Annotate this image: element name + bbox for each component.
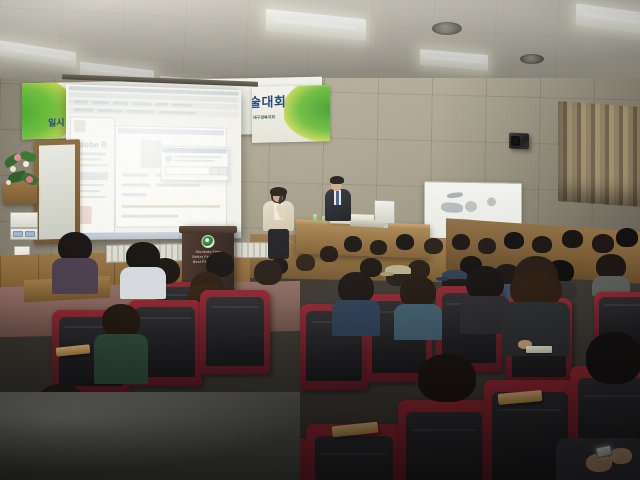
whiteboard-sketch-3 [465,201,477,212]
projection-screen: Adobe R [66,84,241,240]
auditorium-seat[interactable] [200,290,270,374]
dialog-footer-text [122,215,179,218]
audience-member [424,238,443,256]
alert-message-line-1 [175,156,223,159]
audience-member [320,246,338,264]
flower-bloom-5 [6,180,11,185]
dialog-field-value-2 [156,184,201,187]
audience-member [418,354,476,406]
whiteboard-sketch-4 [487,197,496,206]
alert-cancel-button[interactable] [219,167,228,176]
toolbar-icon-group-4 [132,102,151,106]
flower-bloom-1 [14,154,21,161]
banner-swoosh-right-icon [284,85,330,142]
alert-text-input[interactable] [165,166,209,175]
conference-hall-photo: 2 일시 술대회 대구경북지회 Adobe R [0,0,640,480]
flower-bloom-2 [23,161,29,167]
dialog-field-label-2 [122,183,151,186]
floor [0,392,300,480]
dialog-field-label-1 [122,174,149,177]
audience-member [396,234,414,252]
toolbar-icon-group-2 [92,101,110,104]
audience-member [56,232,94,290]
audience-member [96,304,146,384]
dialog-title-bar [118,128,224,135]
toolbar-icon-group-3 [113,101,128,104]
audience-member [452,234,470,252]
modal-alert-dialog[interactable] [161,146,229,181]
audience-member [562,230,583,251]
audience-member-dark-coat [504,256,568,354]
conference-banner-right: 술대회 대구경북지회 [252,85,330,143]
wall-speaker-icon [509,132,529,149]
toolbar-icon-group-7 [74,108,94,112]
toolbar-icon-group-1 [74,100,88,103]
flower-arrangement [2,146,42,194]
audience-member [344,236,362,254]
alert-info-icon [165,155,172,162]
toolbar-icon-group-6 [172,103,192,107]
banner-title-right: 술대회 [252,91,286,111]
audience-member [532,236,552,256]
whiteboard-sketch-2 [441,202,464,214]
notebook [526,346,552,353]
flower-bloom-3 [10,166,16,172]
auditorium-seat[interactable] [398,400,490,480]
audience-member [254,260,282,290]
audience-member [592,234,614,256]
audience-member [296,254,315,274]
audience-member [504,232,524,252]
audience-member [478,238,496,256]
flower-bloom-4 [26,176,33,183]
presenter-in-suit [325,176,351,224]
window-curtain [558,101,640,207]
dialog-separator [122,205,221,208]
water-bottle-1 [313,214,317,224]
audience-member [596,254,626,288]
toolbar-icon-group-5 [155,103,168,106]
dialog-field-label-3 [122,193,147,196]
whiteboard-sketch-1 [447,192,464,199]
alert-title-bar [162,148,226,154]
audience-member [124,242,162,296]
audience-member [396,276,440,338]
audience-member [616,228,638,250]
alert-message-line-2 [175,159,215,161]
toolbar-icon-group-8 [97,109,122,113]
adobe-logo-icon [74,120,86,132]
audience-member-with-phone [556,412,640,480]
banner-date-label: 일시 [48,115,65,128]
banner-subtitle-right: 대구경북지회 [253,114,275,121]
audience-member [586,332,640,390]
audience-member [334,272,378,334]
audience-member [370,240,387,258]
dialog-preview-thumbnail [141,140,162,168]
